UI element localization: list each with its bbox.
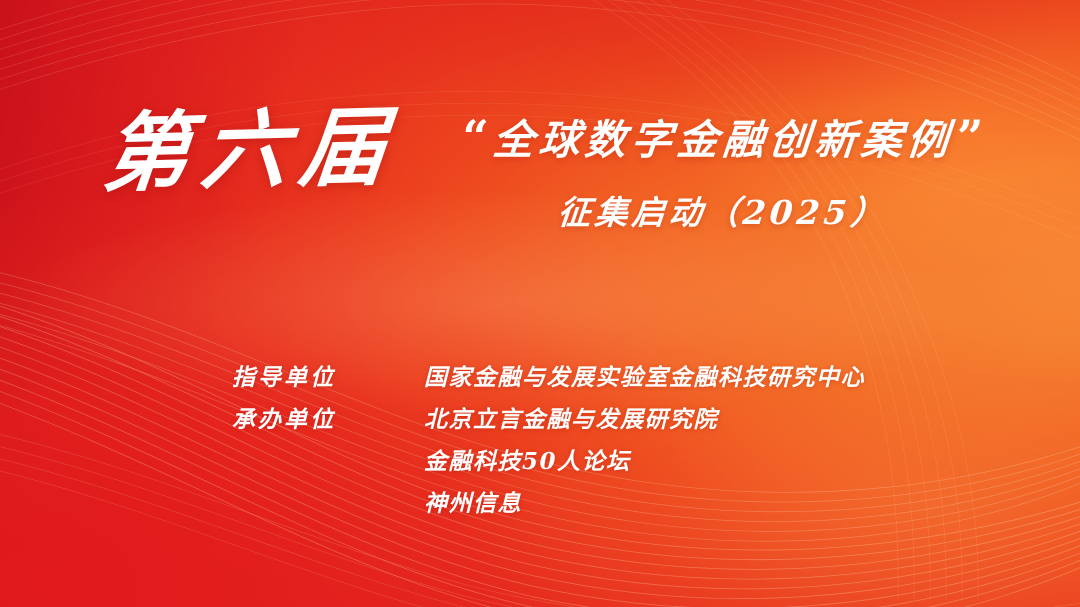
headline-subtitle: 征集启动（2025） (416, 186, 1030, 234)
credit-row: 神州信息 (232, 484, 865, 526)
credit-value: 国家金融与发展实验室金融科技研究中心 (424, 358, 865, 392)
credit-row: 指导单位 国家金融与发展实验室金融科技研究中心 (232, 358, 865, 400)
credits-block: 指导单位 国家金融与发展实验室金融科技研究中心 承办单位 北京立言金融与发展研究… (232, 358, 865, 526)
credit-row: 承办单位 北京立言金融与发展研究院 (232, 400, 865, 442)
opening-quote-mark: “ (463, 114, 489, 160)
credit-label: 指导单位 (232, 358, 424, 392)
poster-text-layer: 第六届 “ 全球数字金融创新案例 ” 征集启动（2025） 指导单位 国家金融与… (0, 0, 1080, 607)
credit-label: 承办单位 (232, 400, 424, 434)
closing-quote-mark: ” (957, 114, 983, 160)
headline-row: “ 全球数字金融创新案例 ” (418, 116, 1028, 164)
edition-title: 第六届 (99, 104, 402, 197)
credit-row: 金融科技50人论坛 (232, 442, 865, 484)
credit-value: 北京立言金融与发展研究院 (424, 400, 718, 434)
credit-value: 神州信息 (424, 484, 522, 518)
promotional-poster: 第六届 “ 全球数字金融创新案例 ” 征集启动（2025） 指导单位 国家金融与… (0, 0, 1080, 607)
credit-value: 金融科技50人论坛 (424, 442, 631, 476)
headline-main-title: 全球数字金融创新案例 (491, 116, 955, 164)
